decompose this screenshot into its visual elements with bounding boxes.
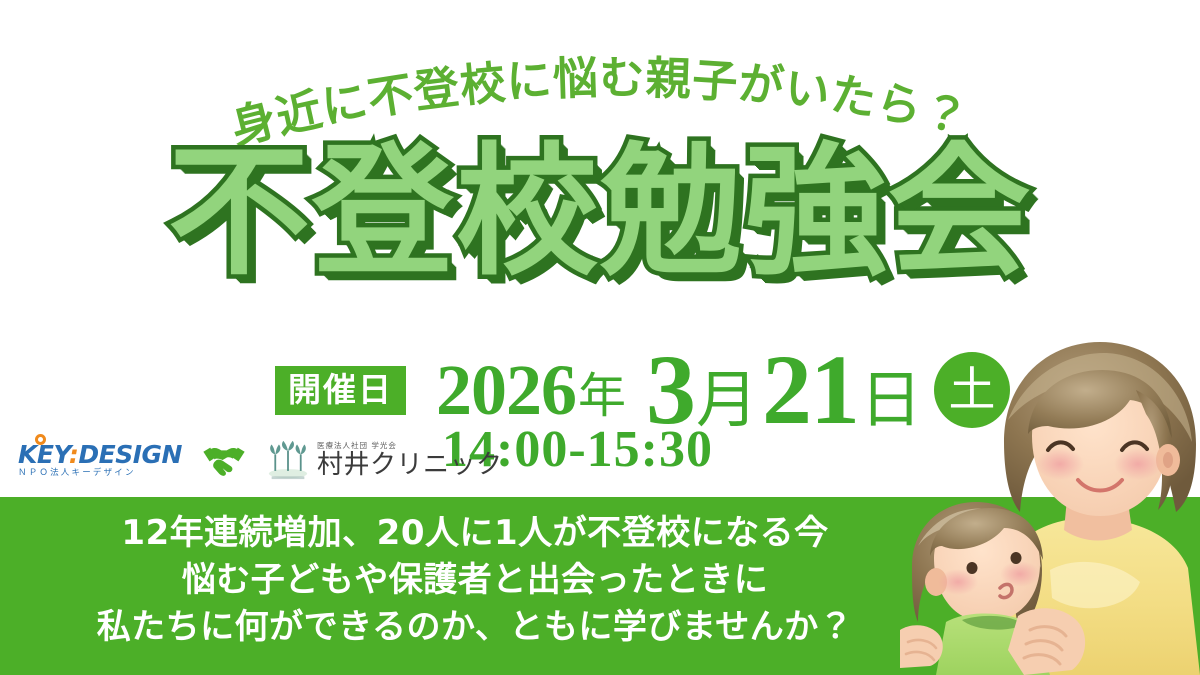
poster-canvas: 身近に不登校に悩む親子がいたら？ 不登校勉強会 開催日 2026 年 3 月 2…: [0, 0, 1200, 675]
handshake-icon: [202, 442, 246, 478]
keydesign-colon: :: [69, 440, 79, 469]
day-of-week-badge: 土: [934, 352, 1010, 428]
keydesign-logo: KEY:DESIGN ＮＰＯ法人キーデザイン: [18, 442, 182, 478]
organizer-logos: KEY:DESIGN ＮＰＯ法人キーデザイン: [18, 440, 503, 480]
band-line-1: 12年連続増加、20人に1人が不登校になる今: [0, 510, 950, 557]
clinic-trees-icon: [266, 440, 310, 480]
keydesign-key: KEY: [18, 440, 69, 469]
main-title-block: 不登校勉強会: [0, 142, 1200, 284]
day-unit: 日: [860, 369, 922, 431]
clinic-name: 村井クリニック: [317, 452, 503, 478]
band-line-3: 私たちに何ができるのか、ともに学びませんか？: [0, 604, 950, 651]
keydesign-wordmark: KEY:DESIGN: [18, 442, 182, 467]
year-unit: 年: [578, 372, 626, 420]
clinic-text: 医療法人社団 学光会 村井クリニック: [317, 442, 503, 478]
main-title: 不登校勉強会: [168, 142, 1032, 284]
clinic-logo: 医療法人社団 学光会 村井クリニック: [266, 440, 503, 480]
date-badge: 開催日: [275, 366, 406, 415]
keydesign-design: DESIGN: [78, 440, 182, 469]
band-message: 12年連続増加、20人に1人が不登校になる今 悩む子どもや保護者と出会ったときに…: [0, 510, 950, 651]
year-value: 2026: [436, 354, 576, 426]
keydesign-subtitle: ＮＰＯ法人キーデザイン: [18, 469, 182, 478]
clinic-corporate-line: 医療法人社団 学光会: [317, 442, 503, 450]
band-line-2: 悩む子どもや保護者と出会ったときに: [0, 557, 950, 604]
